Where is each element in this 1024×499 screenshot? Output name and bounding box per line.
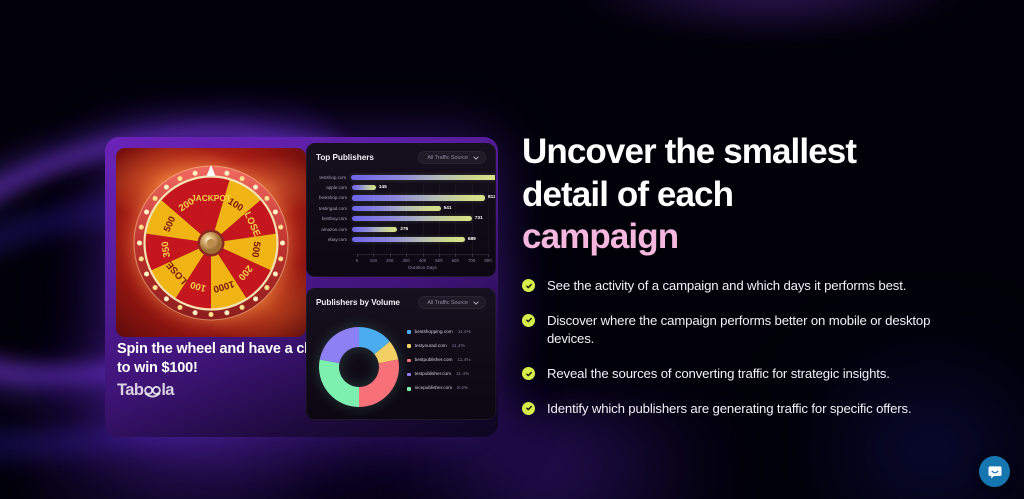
- axis-tick: [373, 254, 374, 257]
- top-publishers-card: Top Publishers All Traffic Source testsh…: [306, 143, 496, 277]
- publishers-by-volume-title: Publishers by Volume: [316, 298, 400, 307]
- bar-row: ebay.com689: [307, 234, 496, 244]
- headline-line-2: detail of each: [522, 174, 942, 217]
- prize-wheel-graphic: JACKPOT100LOSE5002001000100LOSE350500200: [131, 163, 291, 323]
- feature-list-item: Identify which publishers are generating…: [522, 400, 942, 419]
- bar-value-label: 731: [475, 216, 483, 221]
- bar-chart-x-axis: Duration Days 0100200300400500600700800: [357, 254, 488, 276]
- svg-text:JACKPOT: JACKPOT: [191, 193, 232, 203]
- bar-track: 891: [351, 172, 496, 182]
- feature-list-item-text: Reveal the sources of converting traffic…: [547, 365, 890, 384]
- legend-label: testpublisher.com: [415, 372, 451, 377]
- axis-tick-label: 800: [484, 258, 491, 263]
- logo-text-part1: Tab: [117, 381, 143, 400]
- chevron-down-icon: [473, 300, 479, 306]
- bar-fill[interactable]: [352, 185, 376, 190]
- donut-legend: bestshopping.com11.4%testyourad.com11.4%…: [407, 325, 495, 396]
- bar-value-label: 145: [379, 185, 387, 190]
- axis-tick-label: 200: [386, 258, 393, 263]
- bar-row: testshop.com891: [307, 172, 496, 182]
- legend-row[interactable]: testyourad.com11.4%: [407, 339, 495, 353]
- svg-text:500: 500: [249, 240, 262, 257]
- top-publishers-header: Top Publishers All Traffic Source: [307, 144, 495, 168]
- legend-row[interactable]: bestshopping.com11.4%: [407, 325, 495, 339]
- bar-row: amazon.com276: [307, 224, 496, 234]
- traffic-source-filter-top[interactable]: All Traffic Source: [418, 151, 486, 164]
- taboola-logo: Tab la: [117, 381, 174, 400]
- chat-launcher-button[interactable]: [979, 456, 1010, 487]
- feature-list-item-text: Discover where the campaign performs bet…: [547, 312, 942, 349]
- check-circle-icon: [522, 367, 535, 380]
- legend-percentage: 8.4%: [457, 386, 468, 391]
- donut-slice[interactable]: [320, 327, 359, 363]
- bar-fill[interactable]: [351, 175, 496, 180]
- legend-color-swatch: [407, 373, 411, 377]
- bar-fill[interactable]: [352, 237, 465, 242]
- svg-text:350: 350: [160, 240, 173, 257]
- axis-tick-label: 400: [419, 258, 426, 263]
- axis-tick-label: 600: [452, 258, 459, 263]
- bar-value-label: 541: [444, 206, 452, 211]
- axis-tick: [439, 254, 440, 257]
- headline-accent: campaign: [522, 216, 942, 259]
- prize-wheel[interactable]: JACKPOT100LOSE5002001000100LOSE350500200: [131, 163, 291, 323]
- axis-tick: [455, 254, 456, 257]
- legend-color-swatch: [407, 344, 411, 348]
- axis-tick-label: 500: [435, 258, 442, 263]
- legend-percentage: 11.4%: [452, 344, 465, 349]
- axis-tick-label: 0: [356, 258, 358, 263]
- chevron-down-icon: [473, 155, 479, 161]
- legend-row[interactable]: testpublisher.com11.4%: [407, 368, 495, 382]
- grid-line: [406, 184, 407, 254]
- legend-percentage: 11.4%: [456, 372, 469, 377]
- bar-row: testingad.com541: [307, 203, 496, 213]
- traffic-source-filter-top-label: All Traffic Source: [427, 155, 468, 161]
- grid-line: [455, 184, 456, 254]
- legend-row[interactable]: bestpublisher.com11.4%: [407, 353, 495, 367]
- axis-tick: [423, 254, 424, 257]
- traffic-source-filter-bottom[interactable]: All Traffic Source: [418, 296, 486, 309]
- bar-category-label: bestbuy.com: [307, 216, 352, 221]
- bar-category-label: amazon.com: [307, 227, 352, 232]
- bar-category-label: testingad.com: [307, 206, 352, 211]
- headline-line-1: Uncover the smallest: [522, 131, 942, 174]
- axis-tick: [488, 254, 489, 257]
- legend-color-swatch: [407, 330, 411, 334]
- bar-row: bestshop.com812: [307, 193, 496, 203]
- bar-fill[interactable]: [352, 206, 441, 211]
- grid-line: [423, 184, 424, 254]
- grid-line: [439, 184, 440, 254]
- axis-tick-label: 100: [370, 258, 377, 263]
- bar-category-label: apple.com: [307, 185, 352, 190]
- bar-value-label: 812: [488, 195, 496, 200]
- logo-oo-icon: [144, 386, 161, 398]
- bar-row: bestbuy.com731: [307, 214, 496, 224]
- top-publishers-bar-chart: testshop.com891apple.com145bestshop.com8…: [307, 168, 496, 277]
- donut-slice[interactable]: [319, 360, 359, 407]
- logo-text-part2: la: [161, 381, 174, 400]
- publishers-by-volume-card: Publishers by Volume All Traffic Source …: [306, 288, 496, 420]
- page-title: Uncover the smallest detail of each camp…: [522, 131, 942, 259]
- top-publishers-title: Top Publishers: [316, 153, 374, 162]
- legend-color-swatch: [407, 359, 411, 363]
- grid-line: [390, 184, 391, 254]
- legend-row[interactable]: nicepublisher.com8.4%: [407, 382, 495, 396]
- legend-label: bestpublisher.com: [415, 358, 453, 363]
- check-circle-icon: [522, 314, 535, 327]
- feature-list-item-text: See the activity of a campaign and which…: [547, 277, 906, 296]
- bar-rows: testshop.com891apple.com145bestshop.com8…: [307, 172, 496, 245]
- bar-fill[interactable]: [352, 195, 485, 200]
- feature-list-item-text: Identify which publishers are generating…: [547, 400, 911, 419]
- check-circle-icon: [522, 279, 535, 292]
- feature-list: See the activity of a campaign and which…: [522, 277, 942, 435]
- donut-graphic: [313, 321, 405, 413]
- axis-tick: [406, 254, 407, 257]
- spin-wheel-panel[interactable]: JACKPOT100LOSE5002001000100LOSE350500200: [116, 148, 306, 337]
- traffic-source-filter-bottom-label: All Traffic Source: [427, 300, 468, 306]
- axis-tick-label: 300: [403, 258, 410, 263]
- feature-list-item: See the activity of a campaign and which…: [522, 277, 942, 296]
- legend-percentage: 11.4%: [458, 330, 471, 335]
- grid-line: [472, 184, 473, 254]
- x-axis-title: Duration Days: [408, 265, 437, 270]
- chat-bubble-icon: [987, 464, 1003, 480]
- legend-percentage: 11.4%: [457, 358, 470, 363]
- bar-category-label: testshop.com: [307, 175, 351, 180]
- bar-category-label: bestshop.com: [307, 195, 352, 200]
- publishers-donut-chart: [313, 321, 405, 413]
- axis-tick-label: 700: [468, 258, 475, 263]
- axis-tick: [390, 254, 391, 257]
- legend-color-swatch: [407, 387, 411, 391]
- publishers-by-volume-header: Publishers by Volume All Traffic Source: [307, 289, 495, 313]
- grid-line: [373, 184, 374, 254]
- feature-list-item: Reveal the sources of converting traffic…: [522, 365, 942, 384]
- bar-row: apple.com145: [307, 182, 496, 192]
- feature-list-item: Discover where the campaign performs bet…: [522, 312, 942, 349]
- axis-tick: [357, 254, 358, 257]
- donut-slice[interactable]: [359, 360, 399, 407]
- grid-line: [488, 184, 489, 254]
- check-circle-icon: [522, 402, 535, 415]
- axis-tick: [472, 254, 473, 257]
- background-glow-top: [560, 0, 980, 40]
- legend-label: bestshopping.com: [415, 330, 453, 335]
- legend-label: nicepublisher.com: [415, 386, 453, 391]
- bar-fill[interactable]: [352, 216, 472, 221]
- bar-category-label: ebay.com: [307, 237, 352, 242]
- legend-label: testyourad.com: [415, 344, 447, 349]
